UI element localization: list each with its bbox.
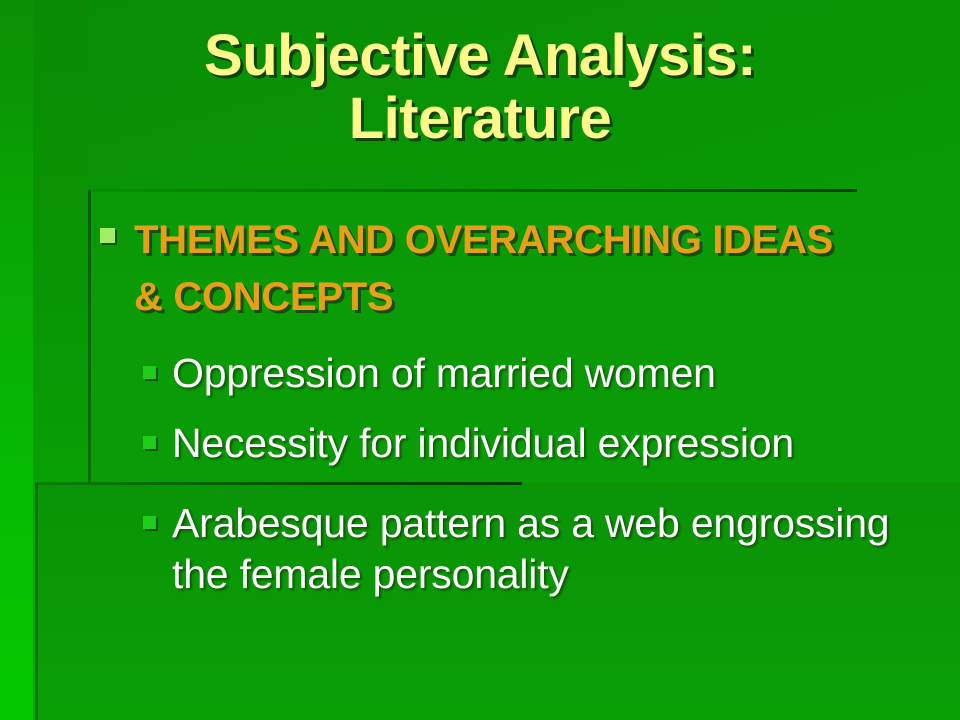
square-bullet-marker-icon [143,516,156,529]
bullet-text-themes: THEMES AND OVERARCHING IDEAS & CONCEPTS [134,212,860,326]
bullet-text-necessity: Necessity for individual expression [172,418,960,469]
square-bullet-marker-icon [143,366,156,379]
bullet-item-level2: Necessity for individual expression [143,418,960,469]
slide-body: THEMES AND OVERARCHING IDEAS & CONCEPTS … [0,0,960,720]
presentation-slide: Subjective Analysis: Literature THEMES A… [0,0,960,720]
bullet-item-level1: THEMES AND OVERARCHING IDEAS & CONCEPTS [100,212,860,326]
bullet-item-level2: Arabesque pattern as a web engrossing th… [143,498,943,600]
bullet-text-oppression: Oppression of married women [172,348,960,399]
bullet-item-level2: Oppression of married women [143,348,960,399]
square-bullet-marker-icon [143,436,156,449]
bullet-text-arabesque: Arabesque pattern as a web engrossing th… [172,498,943,600]
square-bullet-marker-icon [100,228,115,243]
